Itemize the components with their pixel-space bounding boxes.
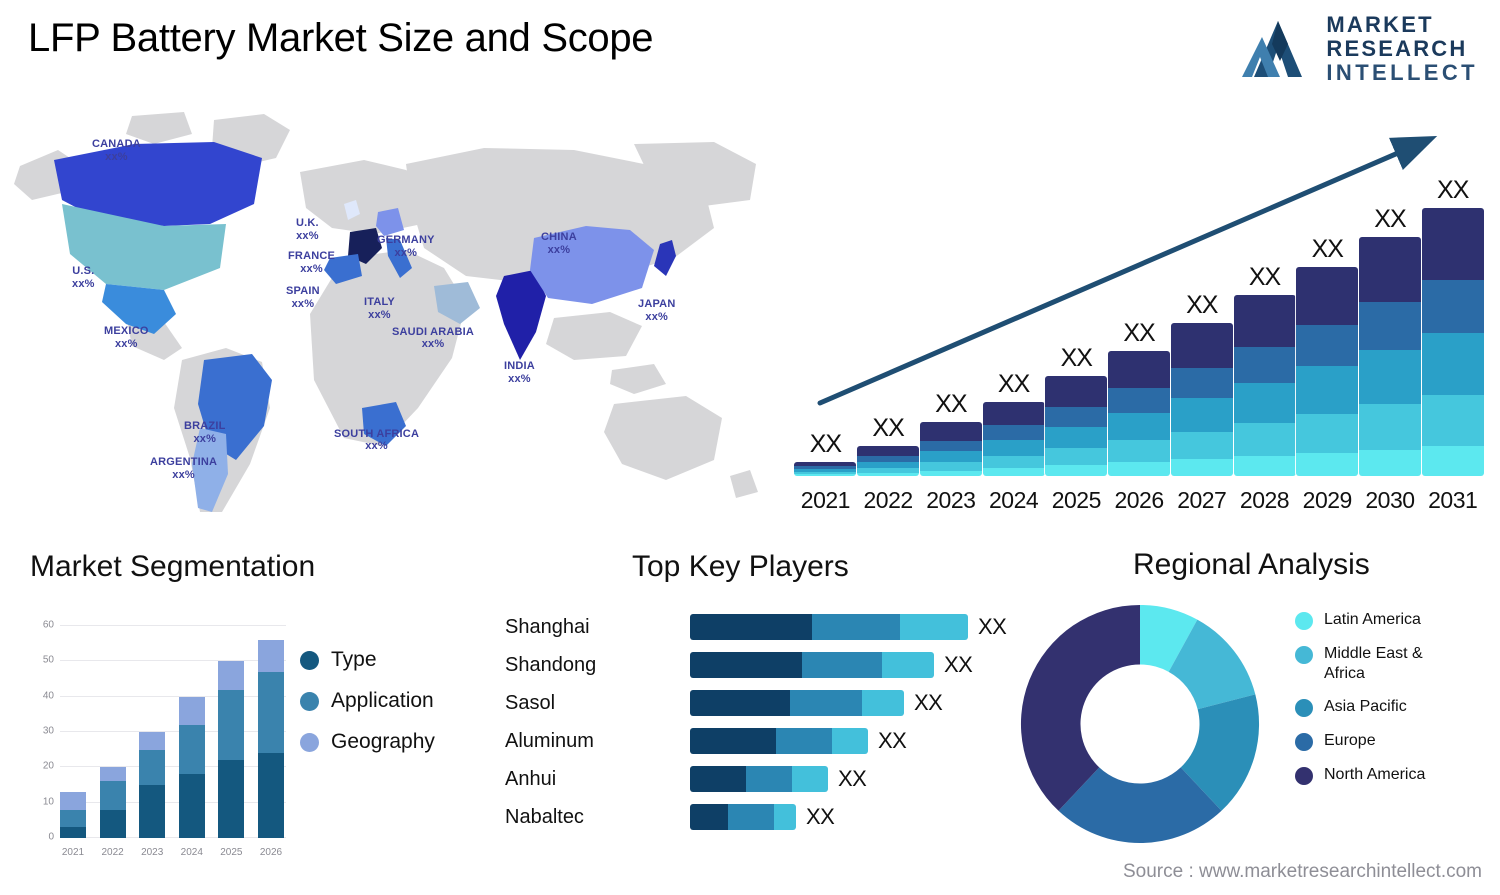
map-country-pct: xx% bbox=[392, 338, 474, 350]
forecast-bar-segment bbox=[1045, 376, 1107, 407]
infographic-page: LFP Battery Market Size and Scope MARKET… bbox=[0, 0, 1500, 895]
forecast-bar-segment bbox=[920, 471, 982, 476]
forecast-bar-segment bbox=[1108, 413, 1170, 440]
map-country-name: SPAIN bbox=[286, 285, 320, 297]
forecast-bar-segment bbox=[1045, 448, 1107, 465]
forecast-year-label: 2027 bbox=[1170, 487, 1233, 514]
map-label-mexico: MEXICO xx% bbox=[104, 325, 149, 351]
key-player-name: Anhui bbox=[505, 768, 690, 791]
map-country-name: SOUTH AFRICA bbox=[334, 428, 419, 440]
forecast-bar bbox=[1422, 208, 1484, 476]
forecast-bar-segment bbox=[1045, 427, 1107, 448]
segmentation-y-tick: 20 bbox=[43, 761, 54, 772]
map-label-italy: ITALY xx% bbox=[364, 296, 395, 322]
segmentation-bar bbox=[179, 697, 205, 838]
key-player-bar bbox=[690, 690, 904, 716]
map-country-name: BRAZIL bbox=[184, 420, 226, 432]
forecast-bar-segment bbox=[1296, 414, 1358, 453]
forecast-bar-column: XX bbox=[982, 166, 1045, 476]
forecast-bar-segment bbox=[1108, 351, 1170, 388]
segmentation-legend-label: Application bbox=[331, 689, 434, 713]
forecast-bar-value: XX bbox=[1186, 291, 1217, 320]
key-player-bar-segment bbox=[802, 652, 882, 678]
forecast-bar-column: XX bbox=[1170, 166, 1233, 476]
segmentation-bar bbox=[218, 661, 244, 838]
forecast-bar-segment bbox=[920, 441, 982, 451]
forecast-bar-value: XX bbox=[935, 390, 966, 419]
forecast-bar-segment bbox=[794, 474, 856, 476]
forecast-bar-segment bbox=[1422, 446, 1484, 476]
forecast-bar-column: XX bbox=[794, 166, 857, 476]
legend-dot-icon bbox=[1295, 767, 1313, 785]
forecast-bar-segment bbox=[1296, 366, 1358, 414]
market-segmentation-heading: Market Segmentation bbox=[30, 550, 315, 584]
segmentation-y-tick: 0 bbox=[48, 832, 54, 843]
forecast-bar-column: XX bbox=[1359, 166, 1422, 476]
segmentation-x-label: 2022 bbox=[100, 847, 126, 858]
key-player-value: XX bbox=[914, 690, 942, 716]
forecast-bar bbox=[1171, 323, 1233, 476]
key-player-bar-segment bbox=[774, 804, 796, 830]
segmentation-bar bbox=[139, 732, 165, 838]
regional-donut-chart bbox=[1016, 600, 1264, 848]
forecast-bar-column: XX bbox=[1108, 166, 1171, 476]
key-player-name: Sasol bbox=[505, 692, 690, 715]
market-forecast-chart: XXXXXXXXXXXXXXXXXXXXXX 20212022202320242… bbox=[790, 118, 1490, 518]
map-country-name: FRANCE bbox=[288, 250, 335, 262]
map-label-germany: GERMANY xx% bbox=[377, 234, 435, 260]
forecast-year-axis: 2021202220232024202520262027202820292030… bbox=[794, 487, 1484, 514]
forecast-bar-segment bbox=[1234, 383, 1296, 424]
key-player-bar-segment bbox=[812, 614, 900, 640]
key-player-name: Aluminum bbox=[505, 730, 690, 753]
forecast-year-label: 2021 bbox=[794, 487, 857, 514]
map-country-pct: xx% bbox=[286, 298, 320, 311]
map-label-spain: SPAIN xx% bbox=[286, 285, 320, 311]
segmentation-bar-segment bbox=[100, 767, 126, 781]
forecast-year-label: 2028 bbox=[1233, 487, 1296, 514]
key-player-bar-segment bbox=[832, 728, 868, 754]
forecast-bar-column: XX bbox=[857, 166, 920, 476]
segmentation-bar-segment bbox=[100, 781, 126, 809]
regional-legend-label: Asia Pacific bbox=[1324, 697, 1407, 717]
map-country-pct: xx% bbox=[184, 433, 226, 446]
forecast-bar-segment bbox=[920, 462, 982, 471]
map-country-pct: xx% bbox=[288, 263, 335, 276]
key-player-bar bbox=[690, 652, 934, 678]
forecast-bar-segment bbox=[1045, 407, 1107, 426]
segmentation-legend-item[interactable]: Application bbox=[300, 689, 435, 713]
legend-dot-icon bbox=[1295, 733, 1313, 751]
top-key-players-chart: ShanghaiXXShandongXXSasolXXAluminumXXAnh… bbox=[505, 608, 1025, 853]
segmentation-x-label: 2024 bbox=[179, 847, 205, 858]
key-player-bar-segment bbox=[862, 690, 904, 716]
forecast-bar-segment bbox=[1045, 465, 1107, 476]
map-country-pct: xx% bbox=[334, 440, 419, 452]
forecast-bar-value: XX bbox=[872, 414, 903, 443]
regional-analysis-chart: Latin AmericaMiddle East & AfricaAsia Pa… bbox=[1010, 596, 1490, 876]
segmentation-bar-segment bbox=[60, 792, 86, 810]
forecast-year-label: 2023 bbox=[919, 487, 982, 514]
forecast-bar-value: XX bbox=[1437, 176, 1468, 205]
forecast-bar bbox=[1359, 237, 1421, 476]
key-player-name: Shanghai bbox=[505, 616, 690, 639]
key-player-bar-segment bbox=[900, 614, 968, 640]
legend-dot-icon bbox=[300, 733, 319, 752]
map-label-india: INDIA xx% bbox=[504, 360, 535, 386]
forecast-year-label: 2024 bbox=[982, 487, 1045, 514]
key-player-value: XX bbox=[838, 766, 866, 792]
map-country-pct: xx% bbox=[150, 469, 217, 482]
key-player-bar-segment bbox=[882, 652, 934, 678]
key-player-bar bbox=[690, 614, 968, 640]
forecast-bar-segment bbox=[983, 468, 1045, 476]
map-country-name: U.K. bbox=[296, 217, 319, 229]
key-player-row: AluminumXX bbox=[505, 722, 1025, 760]
map-country-name: CHINA bbox=[541, 231, 577, 243]
segmentation-y-tick: 40 bbox=[43, 690, 54, 701]
forecast-bar bbox=[857, 446, 919, 476]
key-player-bar-segment bbox=[690, 614, 812, 640]
forecast-bar-segment bbox=[1422, 333, 1484, 395]
logo-line-3: INTELLECT bbox=[1326, 62, 1478, 84]
forecast-bar-value: XX bbox=[810, 430, 841, 459]
forecast-bar-segment bbox=[1234, 347, 1296, 383]
forecast-bar bbox=[794, 462, 856, 476]
legend-dot-icon bbox=[1295, 612, 1313, 630]
map-country-pct: xx% bbox=[541, 244, 577, 257]
segmentation-y-tick: 10 bbox=[43, 796, 54, 807]
key-player-bar-segment bbox=[776, 728, 832, 754]
forecast-bar-segment bbox=[1359, 350, 1421, 405]
map-country-pct: xx% bbox=[104, 338, 149, 351]
forecast-bar-segment bbox=[1171, 459, 1233, 476]
key-player-row: SasolXX bbox=[505, 684, 1025, 722]
map-label-canada: CANADA xx% bbox=[92, 138, 141, 164]
segmentation-bar-segment bbox=[139, 785, 165, 838]
market-segmentation-chart: 0102030405060 202120222023202420252026 bbox=[24, 596, 286, 866]
segmentation-bars bbox=[60, 604, 284, 838]
segmentation-legend-label: Type bbox=[331, 648, 377, 672]
regional-legend-item[interactable]: Middle East & Africa bbox=[1295, 644, 1464, 683]
key-player-value: XX bbox=[944, 652, 972, 678]
key-player-row: ShanghaiXX bbox=[505, 608, 1025, 646]
segmentation-x-axis: 202120222023202420252026 bbox=[60, 847, 284, 858]
segmentation-y-tick: 60 bbox=[43, 620, 54, 631]
map-country-pct: xx% bbox=[377, 247, 435, 260]
forecast-bar-column: XX bbox=[1296, 166, 1359, 476]
forecast-bar-segment bbox=[983, 402, 1045, 425]
key-player-bar-segment bbox=[792, 766, 828, 792]
donut-slice[interactable] bbox=[1021, 605, 1140, 811]
forecast-bar-value: XX bbox=[1061, 344, 1092, 373]
forecast-bar-segment bbox=[1171, 323, 1233, 368]
forecast-year-label: 2029 bbox=[1296, 487, 1359, 514]
key-player-bar bbox=[690, 728, 868, 754]
regional-legend-label: North America bbox=[1324, 765, 1425, 785]
key-player-bar-segment bbox=[690, 804, 728, 830]
top-key-players-heading: Top Key Players bbox=[632, 550, 849, 584]
forecast-bar-segment bbox=[1422, 208, 1484, 280]
forecast-bar bbox=[983, 402, 1045, 476]
map-label-china: CHINA xx% bbox=[541, 231, 577, 257]
segmentation-x-label: 2023 bbox=[139, 847, 165, 858]
forecast-bar-segment bbox=[1108, 440, 1170, 462]
forecast-bar-value: XX bbox=[1249, 263, 1280, 292]
forecast-bar-column: XX bbox=[1421, 166, 1484, 476]
segmentation-bar-segment bbox=[139, 750, 165, 785]
map-label-france: FRANCE xx% bbox=[288, 250, 335, 276]
map-label-japan: JAPAN xx% bbox=[638, 298, 675, 324]
forecast-bar-value: XX bbox=[1123, 319, 1154, 348]
segmentation-x-label: 2021 bbox=[60, 847, 86, 858]
segmentation-bar-segment bbox=[100, 810, 126, 838]
forecast-bar-segment bbox=[1171, 368, 1233, 398]
map-country-pct: xx% bbox=[72, 278, 95, 291]
map-country-pct: xx% bbox=[296, 230, 319, 243]
forecast-bar bbox=[1108, 351, 1170, 476]
segmentation-bar-segment bbox=[139, 732, 165, 750]
segmentation-legend-item[interactable]: Type bbox=[300, 648, 435, 672]
map-country-pct: xx% bbox=[638, 311, 675, 324]
key-player-row: ShandongXX bbox=[505, 646, 1025, 684]
legend-dot-icon bbox=[300, 692, 319, 711]
map-label-brazil: BRAZIL xx% bbox=[184, 420, 226, 446]
forecast-year-label: 2025 bbox=[1045, 487, 1108, 514]
map-label-argentina: ARGENTINA xx% bbox=[150, 456, 217, 482]
map-label-us: U.S. xx% bbox=[72, 265, 95, 291]
forecast-bar-segment bbox=[1296, 453, 1358, 476]
regional-legend-label: Middle East & Africa bbox=[1324, 644, 1464, 683]
legend-dot-icon bbox=[1295, 699, 1313, 717]
segmentation-bar-segment bbox=[60, 810, 86, 828]
map-label-south-africa: SOUTH AFRICA xx% bbox=[334, 428, 419, 452]
forecast-bar-segment bbox=[1359, 302, 1421, 350]
logo-line-1: MARKET bbox=[1326, 14, 1478, 36]
key-player-row: NabaltecXX bbox=[505, 798, 1025, 836]
map-label-saudi-arabia: SAUDI ARABIA xx% bbox=[392, 326, 474, 350]
forecast-bar-column: XX bbox=[1045, 166, 1108, 476]
segmentation-bar-segment bbox=[218, 661, 244, 689]
map-country-name: JAPAN bbox=[638, 298, 675, 310]
segmentation-bar bbox=[258, 640, 284, 838]
mountain-m-icon bbox=[1242, 19, 1316, 79]
regional-legend-item[interactable]: Asia Pacific bbox=[1295, 697, 1464, 717]
key-player-bar-segment bbox=[746, 766, 792, 792]
segmentation-x-label: 2025 bbox=[218, 847, 244, 858]
forecast-bar-segment bbox=[920, 451, 982, 462]
segmentation-legend-label: Geography bbox=[331, 730, 435, 754]
forecast-bar-value: XX bbox=[998, 370, 1029, 399]
forecast-bar-segment bbox=[857, 446, 919, 455]
map-country-name: ITALY bbox=[364, 296, 395, 308]
segmentation-bar bbox=[60, 792, 86, 838]
forecast-bar-segment bbox=[983, 456, 1045, 468]
regional-legend-item[interactable]: North America bbox=[1295, 765, 1464, 785]
regional-legend: Latin AmericaMiddle East & AfricaAsia Pa… bbox=[1295, 610, 1464, 799]
forecast-year-label: 2031 bbox=[1421, 487, 1484, 514]
key-player-bar-segment bbox=[690, 690, 790, 716]
segmentation-legend: TypeApplicationGeography bbox=[300, 648, 435, 771]
map-country-name: CANADA bbox=[92, 138, 141, 150]
map-country-name: MEXICO bbox=[104, 325, 149, 337]
segmentation-x-label: 2026 bbox=[258, 847, 284, 858]
segmentation-bar-segment bbox=[179, 725, 205, 774]
forecast-bar-segment bbox=[1359, 450, 1421, 476]
key-player-row: AnhuiXX bbox=[505, 760, 1025, 798]
forecast-bar-segment bbox=[920, 422, 982, 441]
key-player-value: XX bbox=[978, 614, 1006, 640]
forecast-bar-segment bbox=[1234, 423, 1296, 456]
forecast-bar-segment bbox=[857, 473, 919, 476]
key-player-bar-segment bbox=[690, 652, 802, 678]
segmentation-y-tick: 30 bbox=[43, 726, 54, 737]
segmentation-bar-segment bbox=[258, 672, 284, 753]
map-country-pct: xx% bbox=[92, 151, 141, 164]
segmentation-y-tick: 50 bbox=[43, 655, 54, 666]
world-map: CANADA xx% U.S. xx% MEXICO xx% BRAZIL xx… bbox=[14, 108, 774, 520]
map-label-uk: U.K. xx% bbox=[296, 217, 319, 243]
forecast-bar-segment bbox=[1108, 462, 1170, 476]
forecast-bar-segment bbox=[1422, 280, 1484, 333]
regional-legend-item[interactable]: Europe bbox=[1295, 731, 1464, 751]
key-player-bar bbox=[690, 766, 828, 792]
legend-dot-icon bbox=[1295, 646, 1313, 664]
page-title: LFP Battery Market Size and Scope bbox=[28, 16, 653, 61]
map-country-pct: xx% bbox=[364, 309, 395, 322]
regional-analysis-heading: Regional Analysis bbox=[1133, 548, 1370, 582]
segmentation-legend-item[interactable]: Geography bbox=[300, 730, 435, 754]
key-player-bar-segment bbox=[690, 766, 746, 792]
forecast-bar-segment bbox=[983, 440, 1045, 456]
segmentation-bar bbox=[100, 767, 126, 838]
segmentation-bar-segment bbox=[258, 753, 284, 838]
segmentation-bar-segment bbox=[218, 690, 244, 761]
forecast-bar-segment bbox=[1171, 398, 1233, 432]
forecast-bar-value: XX bbox=[1374, 205, 1405, 234]
key-player-bar-segment bbox=[790, 690, 862, 716]
regional-legend-label: Europe bbox=[1324, 731, 1376, 751]
key-player-bar bbox=[690, 804, 796, 830]
segmentation-bar-segment bbox=[179, 697, 205, 725]
forecast-bar-segment bbox=[1359, 404, 1421, 449]
forecast-bar bbox=[1045, 376, 1107, 476]
key-player-name: Shandong bbox=[505, 654, 690, 677]
map-country-name: INDIA bbox=[504, 360, 535, 372]
map-country-name: ARGENTINA bbox=[150, 456, 217, 468]
forecast-bar-segment bbox=[983, 425, 1045, 440]
forecast-bar bbox=[1234, 295, 1296, 476]
segmentation-bar-segment bbox=[218, 760, 244, 838]
source-note: Source : www.marketresearchintellect.com bbox=[1123, 861, 1482, 883]
legend-dot-icon bbox=[300, 651, 319, 670]
regional-legend-label: Latin America bbox=[1324, 610, 1421, 630]
forecast-bar-segment bbox=[1359, 237, 1421, 302]
forecast-bar bbox=[1296, 267, 1358, 476]
map-country-pct: xx% bbox=[504, 373, 535, 386]
forecast-bar-segment bbox=[1296, 267, 1358, 325]
forecast-bar-segment bbox=[1296, 325, 1358, 366]
forecast-year-label: 2030 bbox=[1359, 487, 1422, 514]
forecast-bars: XXXXXXXXXXXXXXXXXXXXXX bbox=[794, 166, 1484, 476]
key-player-bar-segment bbox=[690, 728, 776, 754]
forecast-bar-value: XX bbox=[1312, 235, 1343, 264]
segmentation-bar-segment bbox=[60, 827, 86, 838]
regional-legend-item[interactable]: Latin America bbox=[1295, 610, 1464, 630]
forecast-bar-column: XX bbox=[919, 166, 982, 476]
map-country-name: SAUDI ARABIA bbox=[392, 326, 474, 338]
forecast-bar-segment bbox=[1234, 456, 1296, 476]
segmentation-bar-segment bbox=[258, 640, 284, 672]
segmentation-bar-segment bbox=[179, 774, 205, 838]
key-player-value: XX bbox=[878, 728, 906, 754]
logo-line-2: RESEARCH bbox=[1326, 38, 1478, 60]
forecast-bar-segment bbox=[1171, 432, 1233, 459]
forecast-year-label: 2026 bbox=[1108, 487, 1171, 514]
forecast-bar-segment bbox=[1234, 295, 1296, 346]
map-country-name: U.S. bbox=[72, 265, 94, 277]
forecast-bar-segment bbox=[1108, 388, 1170, 413]
forecast-bar bbox=[920, 422, 982, 476]
key-player-value: XX bbox=[806, 804, 834, 830]
brand-logo: MARKET RESEARCH INTELLECT bbox=[1242, 14, 1478, 84]
forecast-bar-segment bbox=[1422, 395, 1484, 446]
map-country-name: GERMANY bbox=[377, 234, 435, 246]
key-player-name: Nabaltec bbox=[505, 806, 690, 829]
forecast-bar-column: XX bbox=[1233, 166, 1296, 476]
key-player-bar-segment bbox=[728, 804, 774, 830]
forecast-year-label: 2022 bbox=[857, 487, 920, 514]
